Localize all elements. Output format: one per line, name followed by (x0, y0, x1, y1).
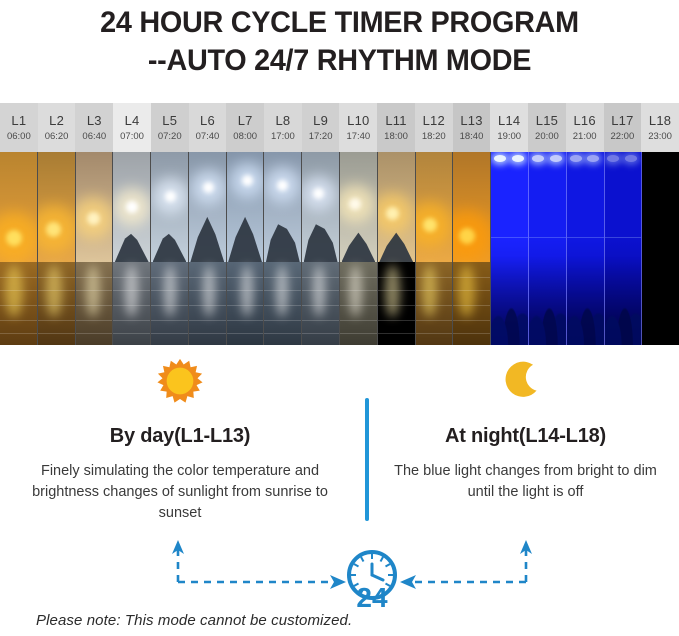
aquarium-plants (567, 256, 604, 345)
scene-ripple (302, 290, 339, 291)
slot-name: L11 (385, 113, 406, 128)
slot-time: 23:00 (648, 131, 672, 142)
slot-time: 20:00 (535, 131, 559, 142)
scene-ripple (302, 305, 339, 306)
scene-sky (416, 152, 453, 262)
scene-ripple (0, 277, 37, 278)
timeline-slot-l10: L1017:40 (339, 103, 377, 152)
scene-ripple (227, 333, 264, 334)
timeline-slot-l5: L507:20 (151, 103, 189, 152)
scene-sea (76, 262, 113, 345)
slot-name: L9 (313, 113, 328, 128)
timeline-slot-l6: L607:40 (189, 103, 227, 152)
scene-ripple (113, 290, 150, 291)
scene-ripple (189, 333, 226, 334)
timeline-slot-l11: L1118:00 (377, 103, 415, 152)
scene-ripple (151, 277, 188, 278)
scene-ripple (453, 320, 490, 321)
led-light (494, 155, 506, 162)
scene-ripple (453, 305, 490, 306)
scene-sun (459, 228, 475, 244)
timeline-label-row: L106:00L206:20L306:40L407:00L507:20L607:… (0, 103, 679, 152)
scene-ripple (76, 277, 113, 278)
scene-l2 (38, 152, 76, 345)
scene-ripple (38, 277, 75, 278)
night-mode-column: At night(L14-L18) The blue light changes… (372, 345, 679, 503)
slot-time: 08:00 (233, 131, 257, 142)
scene-ripple (264, 320, 301, 321)
scene-sun (242, 175, 253, 186)
timeline-slot-l1: L106:00 (0, 103, 38, 152)
scene-ripple (416, 320, 453, 321)
scene-sea (0, 262, 37, 345)
scene-ripple (264, 277, 301, 278)
clock-24-icon: 24 (339, 547, 405, 609)
scene-sea (189, 262, 226, 345)
slot-time: 06:40 (82, 131, 106, 142)
scene-ripple (378, 305, 415, 306)
slot-time: 17:20 (309, 131, 333, 142)
scene-sky (76, 152, 113, 262)
scene-ripple (340, 290, 377, 291)
led-light (625, 155, 637, 162)
title-line-1: 24 HOUR CYCLE TIMER PROGRAM (14, 4, 666, 42)
scene-l12 (416, 152, 454, 345)
scene-ripple (264, 305, 301, 306)
led-light (532, 155, 544, 162)
scene-ripple (38, 320, 75, 321)
scene-ripple (416, 305, 453, 306)
scene-ripple (302, 320, 339, 321)
scene-sea (340, 262, 377, 345)
slot-time: 18:00 (384, 131, 408, 142)
slot-name: L2 (49, 113, 64, 128)
scene-ripple (151, 305, 188, 306)
scene-ripple (416, 277, 453, 278)
scene-l4 (113, 152, 151, 345)
scene-sky (38, 152, 75, 262)
scene-sea (378, 262, 415, 345)
timeline-slot-l4: L407:00 (113, 103, 151, 152)
scene-ripple (151, 290, 188, 291)
scene-ripple (38, 305, 75, 306)
scene-sea (227, 262, 264, 345)
scene-ripple (189, 320, 226, 321)
scene-ripple (38, 333, 75, 334)
scene-ripple (189, 277, 226, 278)
scene-l5 (151, 152, 189, 345)
timeline-slot-l18: L1823:00 (641, 103, 679, 152)
scene-sky (453, 152, 490, 262)
scene-ripple (340, 333, 377, 334)
scene-sun (126, 201, 138, 213)
aquarium-led-bar (529, 154, 566, 166)
scene-l14 (491, 152, 529, 345)
slot-name: L12 (423, 113, 445, 128)
scene-sea (151, 262, 188, 345)
scene-l16 (567, 152, 605, 345)
scene-ripple (264, 333, 301, 334)
slot-time: 18:40 (460, 131, 484, 142)
scene-ripple (189, 305, 226, 306)
slot-name: L1 (11, 113, 26, 128)
scene-sun (165, 191, 176, 202)
slot-time: 07:20 (158, 131, 182, 142)
slot-name: L7 (238, 113, 253, 128)
slot-time: 17:40 (346, 131, 370, 142)
scene-waterline (529, 237, 566, 238)
scene-ripple (416, 333, 453, 334)
section-divider (365, 398, 369, 521)
scene-sea (416, 262, 453, 345)
sun-icon (0, 345, 360, 407)
scene-l10 (340, 152, 378, 345)
scene-ripple (76, 305, 113, 306)
scene-ripple (340, 277, 377, 278)
footer-note: Please note: This mode cannot be customi… (36, 612, 352, 629)
scene-ripple (453, 333, 490, 334)
title-line-2: --AUTO 24/7 RHYTHM MODE (14, 42, 666, 80)
scene-ripple (416, 290, 453, 291)
slot-time: 06:20 (45, 131, 69, 142)
scene-ripple (76, 320, 113, 321)
scene-sun (203, 182, 214, 193)
timeline-slot-l2: L206:20 (38, 103, 76, 152)
scene-ripple (113, 305, 150, 306)
slot-name: L13 (460, 113, 482, 128)
scene-ripple (264, 290, 301, 291)
scene-ripple (340, 305, 377, 306)
night-mode-heading: At night(L14-L18) (372, 423, 679, 449)
aquarium-led-bar (491, 154, 528, 166)
led-light (570, 155, 582, 162)
scene-waterline (567, 237, 604, 238)
scene-sun (423, 218, 437, 232)
scene-sun (6, 230, 22, 246)
scene-l6 (189, 152, 227, 345)
page-title: 24 HOUR CYCLE TIMER PROGRAM --AUTO 24/7 … (0, 0, 679, 80)
scene-sea (38, 262, 75, 345)
slot-name: L4 (125, 113, 140, 128)
timeline-slot-l15: L1520:00 (528, 103, 566, 152)
aquarium-led-bar (605, 154, 642, 166)
led-light (607, 155, 619, 162)
scene-ripple (340, 320, 377, 321)
scene-sky (0, 152, 37, 262)
day-mode-column: By day(L1-L13) Finely simulating the col… (0, 345, 360, 524)
scene-ripple (302, 333, 339, 334)
slot-name: L16 (573, 113, 595, 128)
led-light (512, 155, 524, 162)
scene-ripple (227, 290, 264, 291)
led-light (550, 155, 562, 162)
timeline-slot-l14: L1419:00 (490, 103, 528, 152)
scene-l17 (605, 152, 643, 345)
aquarium-led-bar (567, 154, 604, 166)
scene-ripple (113, 333, 150, 334)
slot-name: L6 (200, 113, 215, 128)
aquarium-plants (491, 256, 528, 345)
aquarium-plants (605, 256, 642, 345)
scene-ripple (151, 320, 188, 321)
scene-ripple (113, 320, 150, 321)
scene-l11 (378, 152, 416, 345)
slot-time: 19:00 (497, 131, 521, 142)
scene-ripple (113, 277, 150, 278)
slot-name: L5 (162, 113, 177, 128)
scene-l1 (0, 152, 38, 345)
scene-ripple (378, 333, 415, 334)
scene-sea (453, 262, 490, 345)
scene-l3 (76, 152, 114, 345)
slot-time: 07:00 (120, 131, 144, 142)
scene-ripple (0, 305, 37, 306)
scene-ripple (0, 320, 37, 321)
scene-ripple (227, 305, 264, 306)
slot-time: 22:00 (610, 131, 634, 142)
scene-ripple (302, 277, 339, 278)
slot-time: 17:00 (271, 131, 295, 142)
scene-waterline (605, 237, 642, 238)
lighting-preview-strip (0, 152, 679, 345)
scene-ripple (453, 277, 490, 278)
slot-name: L8 (275, 113, 290, 128)
scene-ripple (38, 290, 75, 291)
led-light (587, 155, 599, 162)
timeline-slot-l16: L1621:00 (566, 103, 604, 152)
slot-time: 18:20 (422, 131, 446, 142)
timeline-slot-l9: L917:20 (302, 103, 340, 152)
aquarium-plants (529, 256, 566, 345)
scene-l9 (302, 152, 340, 345)
scene-waterline (491, 237, 528, 238)
slot-time: 07:40 (196, 131, 220, 142)
timeline-slot-l13: L1318:40 (453, 103, 491, 152)
scene-sea (113, 262, 150, 345)
timeline-slot-l3: L306:40 (75, 103, 113, 152)
mode-description-section: By day(L1-L13) Finely simulating the col… (0, 345, 679, 545)
scene-sun (87, 212, 100, 225)
scene-ripple (76, 333, 113, 334)
timeline-slot-l12: L1218:20 (415, 103, 453, 152)
scene-ripple (0, 333, 37, 334)
slot-name: L3 (87, 113, 102, 128)
scene-sea (264, 262, 301, 345)
clock-24-label: 24 (356, 582, 388, 609)
scene-ripple (378, 320, 415, 321)
scene-sea (302, 262, 339, 345)
scene-ripple (227, 320, 264, 321)
day-mode-heading: By day(L1-L13) (0, 423, 360, 449)
scene-ripple (189, 290, 226, 291)
timeline-slot-l8: L817:00 (264, 103, 302, 152)
scene-ripple (378, 290, 415, 291)
scene-ripple (76, 290, 113, 291)
scene-ripple (151, 333, 188, 334)
slot-name: L14 (498, 113, 520, 128)
scene-sun (46, 222, 61, 237)
slot-name: L18 (649, 113, 671, 128)
scene-ripple (378, 277, 415, 278)
scene-sun (277, 180, 288, 191)
scene-ripple (227, 277, 264, 278)
moon-icon (372, 345, 679, 407)
scene-l7 (227, 152, 265, 345)
scene-l8 (264, 152, 302, 345)
scene-l15 (529, 152, 567, 345)
night-mode-description: The blue light changes from bright to di… (372, 461, 679, 503)
slot-name: L10 (347, 113, 369, 128)
timeline-slot-l7: L708:00 (226, 103, 264, 152)
slot-time: 21:00 (573, 131, 597, 142)
day-mode-description: Finely simulating the color temperature … (0, 461, 360, 524)
timeline-slot-l17: L1722:00 (604, 103, 642, 152)
slot-time: 06:00 (7, 131, 31, 142)
scene-l18 (642, 152, 679, 345)
slot-name: L17 (611, 113, 633, 128)
scene-ripple (453, 290, 490, 291)
scene-l13 (453, 152, 491, 345)
scene-ripple (0, 290, 37, 291)
slot-name: L15 (536, 113, 558, 128)
